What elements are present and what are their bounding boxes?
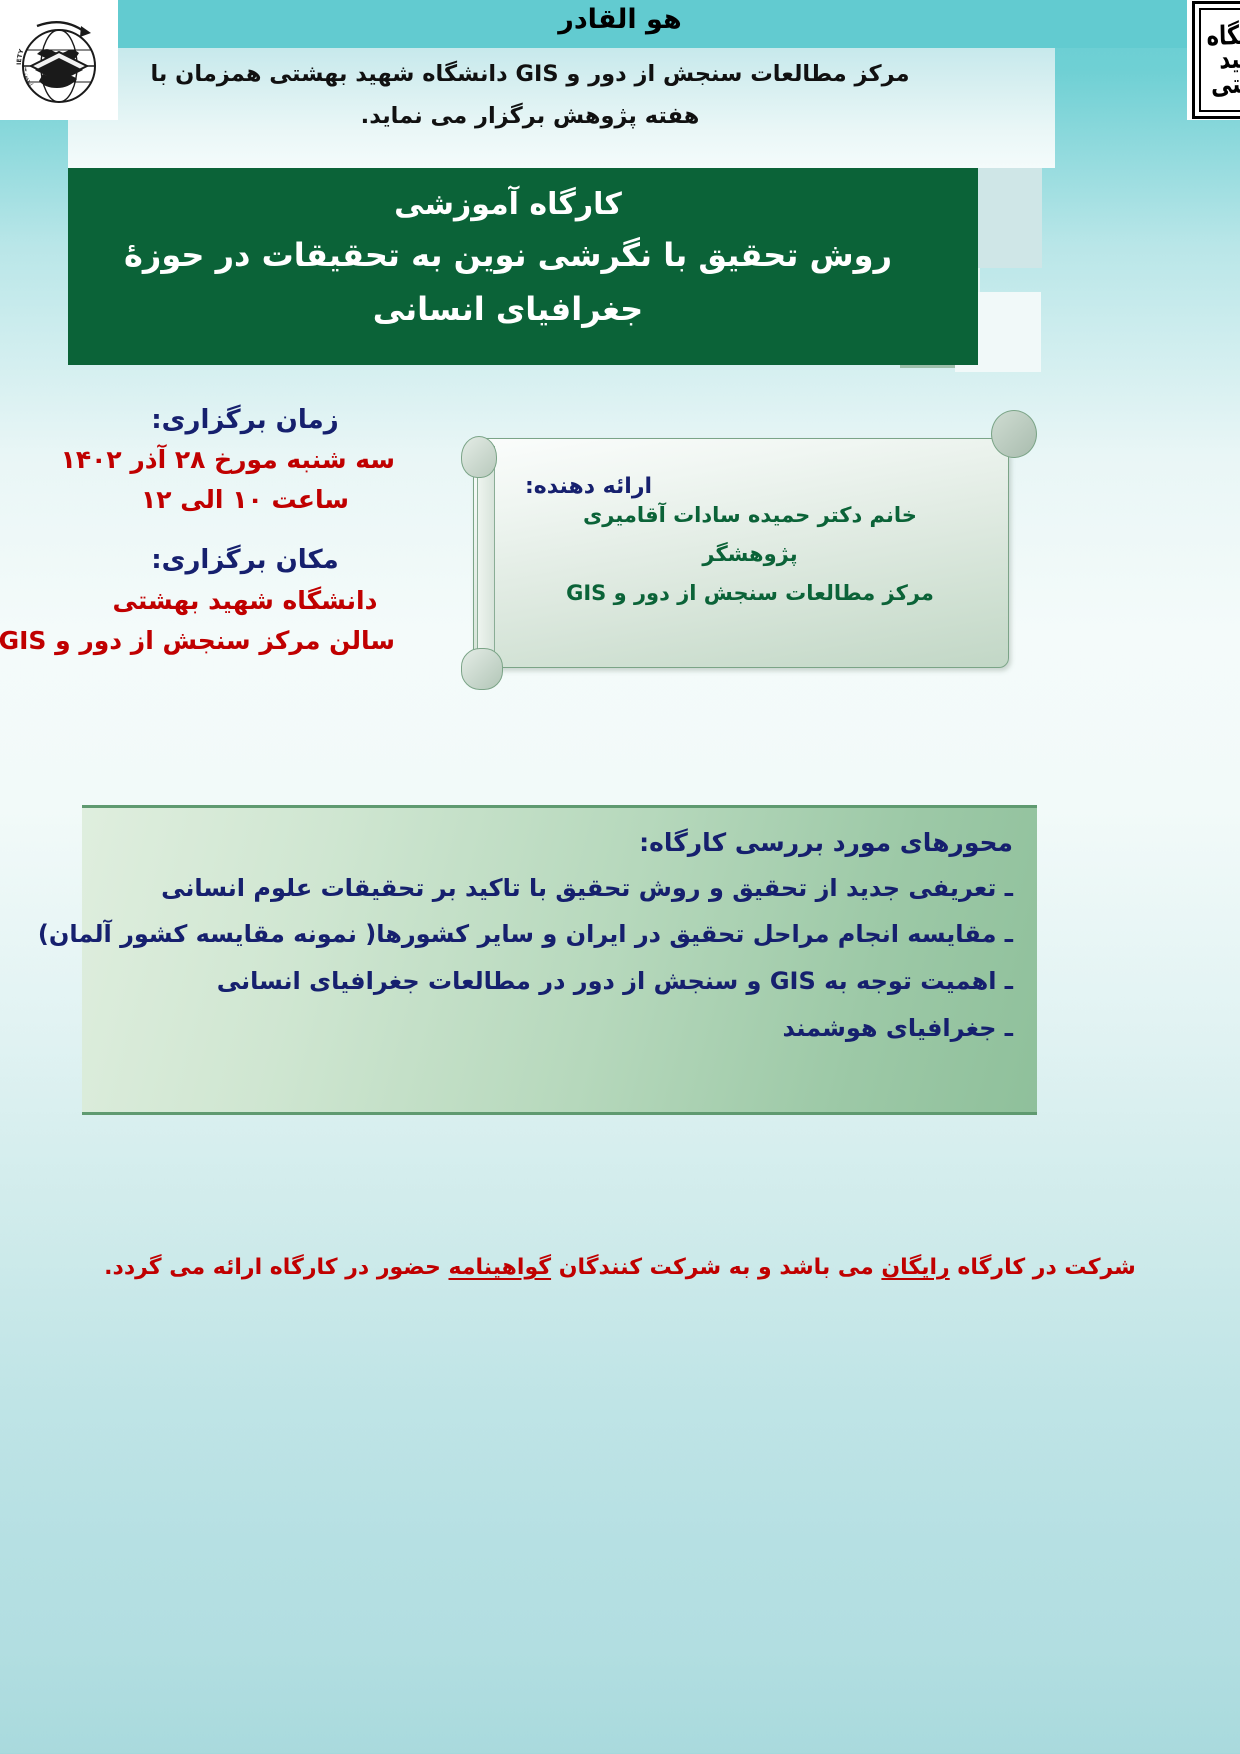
scroll-rail [477,446,495,662]
svg-text:IRANIAN RS & GIS SOCIETY: IRANIAN RS & GIS SOCIETY [7,8,26,65]
details-spacer [95,520,395,540]
banner-title-line-1: روش تحقیق با نگرشی نوین به تحقیقات در حو… [68,231,948,281]
event-date-value: سه شنبه مورخ ۲۸ آذر ۱۴۰۲ [95,440,395,480]
workshop-title-banner: کارگاه آموزشی روش تحقیق با نگرشی نوین به… [68,168,978,365]
topic-item: ـ تعریفی جدید از تحقیق و روش تحقیق با تا… [106,865,1013,912]
shahid-beheshti-university-logo: دانشگاه شهید بهشتی [1192,1,1240,119]
topic-item: ـ جغرافیای هوشمند [106,1005,1013,1052]
event-time-label: زمان برگزاری: [95,400,395,440]
footer-free-word: رایگان [881,1255,949,1280]
footer-part-3: حضور در کارگاه ارائه می گردد. [104,1255,448,1280]
banner-title-line-2: جغرافیای انسانی [68,285,948,335]
event-place-hall: سالن مرکز سنجش از دور و GIS [95,621,395,661]
presenter-text-block: ارائه دهنده: خانم دکتر حمیده سادات آقامی… [515,474,985,613]
footer-part-2: می باشد و به شرکت کنندگان [551,1255,881,1280]
svg-text:انجمن سنجش از دور و GIS ایران: انجمن سنجش از دور و GIS ایران [7,8,34,87]
banner-kicker: کارگاه آموزشی [68,182,948,227]
event-hours-value: ساعت ۱۰ الی ۱۲ [95,480,395,520]
topic-item: ـ اهمیت توجه به GIS و سنجش از دور در مطا… [106,958,1013,1005]
workshop-topics-box: محورهای مورد بررسی کارگاه: ـ تعریفی جدید… [82,805,1037,1115]
topic-item: ـ مقایسه انجام مراحل تحقیق در ایران و سا… [106,911,1013,958]
presenter-role: پژوهشگر [515,535,985,574]
event-details: زمان برگزاری: سه شنبه مورخ ۲۸ آذر ۱۴۰۲ س… [95,400,395,661]
footer-part-1: شرکت در کارگاه [950,1255,1136,1280]
scroll-curl-left-top [461,436,497,478]
topics-title: محورهای مورد بررسی کارگاه: [106,822,1013,865]
iranian-rs-gis-society-logo: IRANIAN RS & GIS SOCIETY انجمن سنجش از د… [7,8,111,112]
event-place-university: دانشگاه شهید بهشتی [95,581,395,621]
presenter-name: خانم دکتر حمیده سادات آقامیری [515,496,985,535]
presenter-scroll: ارائه دهنده: خانم دکتر حمیده سادات آقامی… [455,428,1025,678]
scroll-curl-left-bottom [461,648,503,690]
university-logo-text: دانشگاه شهید بهشتی [1194,22,1240,98]
presenter-affiliation: مرکز مطالعات سنجش از دور و GIS [515,574,985,613]
banner-text-block: کارگاه آموزشی روش تحقیق با نگرشی نوین به… [68,168,978,334]
scroll-curl-top-right [991,410,1037,458]
footer-note: شرکت در کارگاه رایگان می باشد و به شرکت … [0,1255,1240,1280]
event-place-label: مکان برگزاری: [95,540,395,580]
rs-gis-society-logo-box: IRANIAN RS & GIS SOCIETY انجمن سنجش از د… [0,0,118,120]
footer-certificate-word: گواهینامه [448,1255,551,1280]
university-logo-box: دانشگاه شهید بهشتی [1187,0,1240,120]
